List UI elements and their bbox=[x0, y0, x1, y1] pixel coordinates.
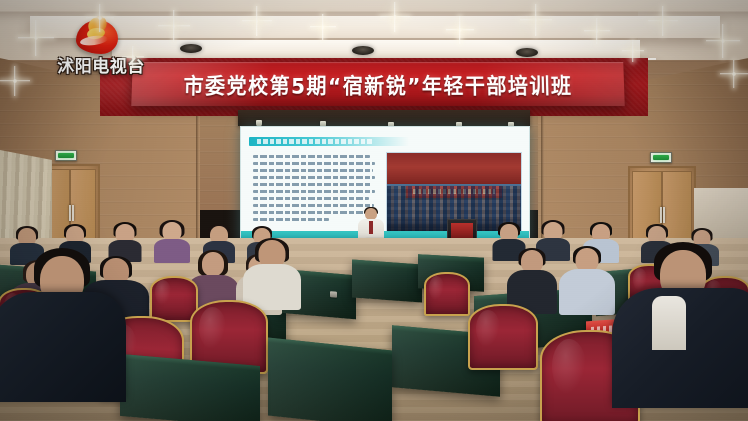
exit-sign-right bbox=[650, 152, 672, 163]
ceiling-downlight bbox=[516, 48, 538, 57]
ceiling-downlight bbox=[352, 46, 374, 55]
foreground-person-right-collar bbox=[652, 296, 686, 350]
exit-sign-left bbox=[55, 150, 77, 161]
door-handle[interactable] bbox=[69, 205, 71, 221]
stage-banner: 市委党校第5期“宿新锐”年轻干部培训班 bbox=[131, 62, 625, 106]
audience-person bbox=[540, 222, 566, 252]
door-handle[interactable] bbox=[660, 207, 662, 223]
slide-photo-stage bbox=[387, 153, 521, 184]
chair[interactable] bbox=[150, 276, 194, 318]
audience-person bbox=[252, 240, 292, 292]
door-handle[interactable] bbox=[72, 205, 74, 221]
chair[interactable] bbox=[190, 300, 264, 370]
exit-sign-icon bbox=[653, 155, 668, 160]
foreground-person-left-body bbox=[0, 292, 126, 402]
audience-table-front bbox=[268, 337, 392, 421]
broadcast-frame: 市委党校第5期“宿新锐”年轻干部培训班 bbox=[0, 0, 748, 421]
chair[interactable] bbox=[468, 304, 534, 366]
slide-header-text bbox=[257, 139, 373, 144]
audience-person bbox=[112, 224, 138, 254]
flame-swoosh-logo-icon bbox=[74, 16, 120, 56]
audience-person bbox=[570, 248, 604, 292]
station-logo-text: 沭阳电视台 bbox=[46, 52, 156, 77]
ceiling-downlight bbox=[180, 44, 202, 53]
slide-body-text bbox=[253, 155, 375, 225]
presenter-tie bbox=[369, 221, 373, 234]
presenter bbox=[358, 208, 384, 242]
audience-person bbox=[158, 222, 186, 254]
table-clip bbox=[330, 291, 337, 298]
station-logo: 沭阳电视台 bbox=[46, 16, 156, 78]
screen-housing bbox=[238, 110, 530, 126]
stage-banner-text: 市委党校第5期“宿新锐”年轻干部培训班 bbox=[183, 68, 573, 99]
audience-person bbox=[516, 250, 548, 292]
door-handle[interactable] bbox=[663, 207, 665, 223]
slide-header-bar bbox=[249, 137, 409, 146]
chair[interactable] bbox=[424, 272, 466, 312]
exit-sign-icon bbox=[58, 153, 73, 158]
audience-table-front bbox=[120, 354, 260, 421]
audience-table bbox=[352, 260, 422, 303]
ceiling-slab-outer bbox=[0, 0, 748, 12]
audience-person bbox=[196, 252, 230, 296]
projection-screen bbox=[240, 126, 530, 246]
